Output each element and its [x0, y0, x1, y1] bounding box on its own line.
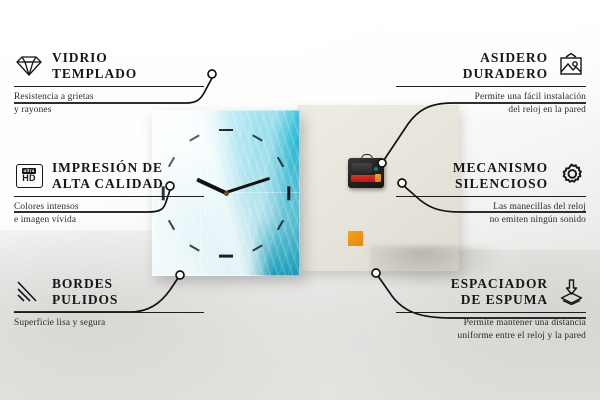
feature-espaciador-espuma: ESPACIADOR DE ESPUMA Permite mantener un…	[396, 276, 586, 342]
diamond-icon	[14, 52, 44, 80]
hanging-frame-icon	[556, 52, 586, 80]
feature-desc-line2: del reloj en la pared	[396, 104, 586, 116]
feature-heading: ultra HD IMPRESIÓN DE ALTA CALIDAD	[14, 160, 204, 192]
feature-title-line1: ESPACIADOR	[396, 276, 548, 292]
feature-asidero-duradero: ASIDERO DURADERO Permite una fácil insta…	[396, 50, 586, 116]
feature-desc-line2: no emiten ningún sonido	[396, 214, 586, 226]
feature-bordes-pulidos: BORDES PULIDOS Superficie lisa y segura	[14, 276, 204, 330]
feature-heading: ASIDERO DURADERO	[396, 50, 586, 82]
feature-impresion-alta-calidad: ultra HD IMPRESIÓN DE ALTA CALIDAD Color…	[14, 160, 204, 226]
ultra-hd-bottom-label: HD	[22, 174, 36, 183]
mechanism-battery-terminal	[375, 174, 381, 182]
feature-description: Superficie lisa y segura	[14, 317, 204, 329]
feature-title-line2: SILENCIOSO	[396, 176, 548, 192]
feature-divider	[396, 312, 586, 313]
feature-title-line2: ALTA CALIDAD	[52, 176, 204, 192]
feature-title: ASIDERO DURADERO	[396, 50, 548, 82]
feature-desc-line1: Superficie lisa y segura	[14, 317, 204, 329]
feature-divider	[14, 86, 204, 87]
feature-desc-line2: uniforme entre el reloj y la pared	[396, 330, 586, 342]
feature-desc-line1: Las manecillas del reloj	[396, 201, 586, 213]
feature-desc-line1: Permite mantener una distancia	[396, 317, 586, 329]
feature-title-line2: TEMPLADO	[52, 66, 204, 82]
feature-title: ESPACIADOR DE ESPUMA	[396, 276, 548, 308]
feature-title: IMPRESIÓN DE ALTA CALIDAD	[52, 160, 204, 192]
feature-divider	[396, 196, 586, 197]
clock-hands-pivot	[224, 191, 229, 196]
feature-heading: MECANISMO SILENCIOSO	[396, 160, 586, 192]
feature-divider	[396, 86, 586, 87]
feature-title-line2: PULIDOS	[52, 292, 204, 308]
feature-desc-line2: y rayones	[14, 104, 204, 116]
feature-description: Permite una fácil instalación del reloj …	[396, 91, 586, 116]
ultra-hd-icon: ultra HD	[14, 162, 44, 190]
feature-mecanismo-silencioso: MECANISMO SILENCIOSO Las manecillas del …	[396, 160, 586, 226]
feature-title: VIDRIO TEMPLADO	[52, 50, 204, 82]
feature-desc-line1: Permite una fácil instalación	[396, 91, 586, 103]
feature-title-line2: DE ESPUMA	[396, 292, 548, 308]
feature-title-line1: VIDRIO	[52, 50, 204, 66]
mechanism-indicator-dot	[374, 167, 378, 171]
mechanism-detail	[352, 163, 372, 173]
feature-heading: BORDES PULIDOS	[14, 276, 204, 308]
foam-spacer-icon	[556, 278, 586, 306]
polished-edges-icon	[14, 278, 44, 306]
feature-divider	[14, 312, 204, 313]
feature-desc-line1: Colores intensos	[14, 201, 204, 213]
feature-description: Colores intensos e imagen vívida	[14, 201, 204, 226]
feature-title-line1: ASIDERO	[396, 50, 548, 66]
feature-vidrio-templado: VIDRIO TEMPLADO Resistencia a grietas y …	[14, 50, 204, 116]
feature-title-line1: IMPRESIÓN DE	[52, 160, 204, 176]
ultra-hd-badge: ultra HD	[16, 164, 43, 188]
feature-divider	[14, 196, 204, 197]
feature-title: BORDES PULIDOS	[52, 276, 204, 308]
feature-heading: ESPACIADOR DE ESPUMA	[396, 276, 586, 308]
feature-title-line1: MECANISMO	[396, 160, 548, 176]
feature-description: Las manecillas del reloj no emiten ningú…	[396, 201, 586, 226]
feature-title-line1: BORDES	[52, 276, 204, 292]
clock-mechanism	[348, 154, 384, 188]
feature-desc-line1: Resistencia a grietas	[14, 91, 204, 103]
foam-spacer	[348, 231, 366, 249]
feature-title: MECANISMO SILENCIOSO	[396, 160, 548, 192]
gear-icon	[556, 162, 586, 190]
feature-desc-line2: e imagen vívida	[14, 214, 204, 226]
feature-heading: VIDRIO TEMPLADO	[14, 50, 204, 82]
poster-canvas: VIDRIO TEMPLADO Resistencia a grietas y …	[0, 0, 600, 400]
feature-description: Resistencia a grietas y rayones	[14, 91, 204, 116]
foam-spacer-front	[348, 231, 363, 246]
feature-title-line2: DURADERO	[396, 66, 548, 82]
feature-description: Permite mantener una distancia uniforme …	[396, 317, 586, 342]
